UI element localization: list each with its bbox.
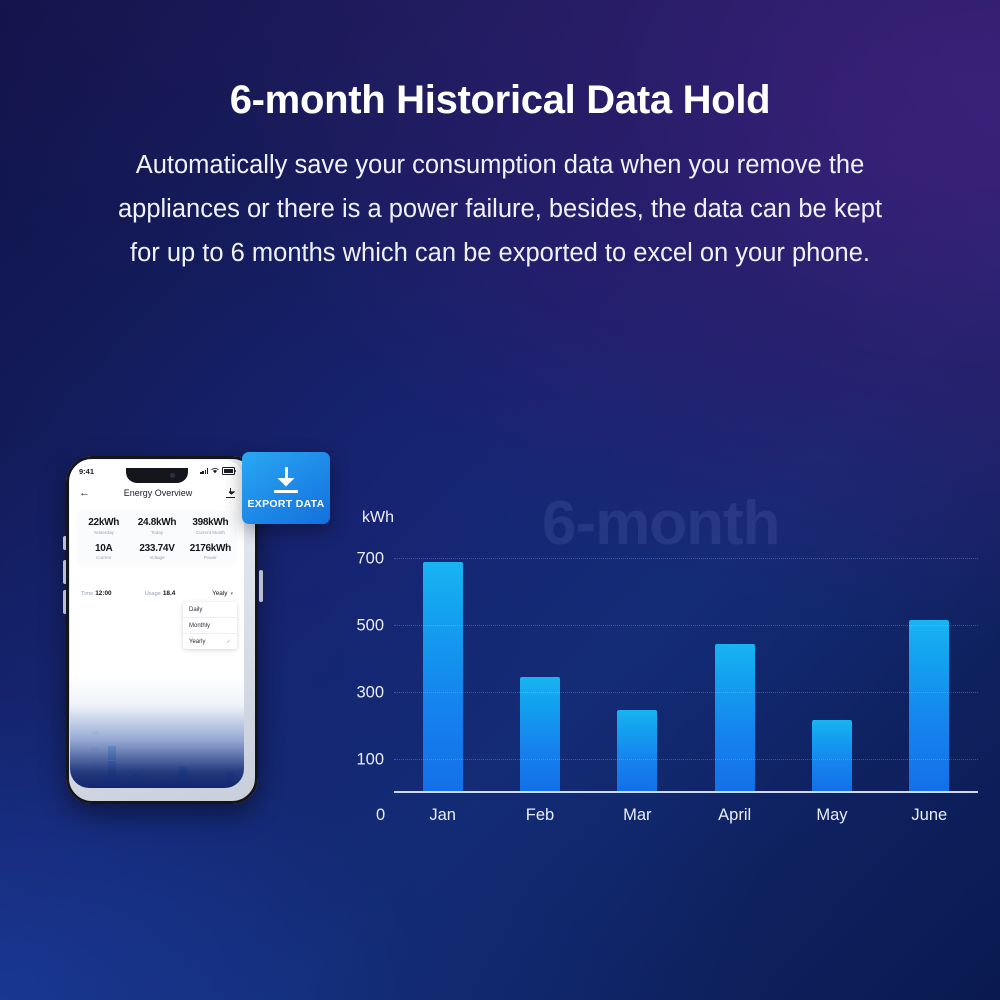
- phone-power-button: [259, 570, 263, 602]
- usage-readout: Usage 18.4: [127, 590, 193, 597]
- usage-label: Usage: [145, 591, 161, 597]
- chart-bar-slot: [394, 539, 491, 791]
- usage-panel: Time 12:00 Usage 18.4 Yealy ▾ Daily: [77, 590, 237, 597]
- stat-value: 10A: [77, 543, 130, 554]
- stat-cell: 2176kWh Power: [184, 543, 237, 561]
- phone-volume-down-button: [63, 590, 67, 614]
- chevron-down-icon: ▾: [230, 591, 233, 597]
- subtitle-line: appliances or there is a power failure, …: [0, 187, 1000, 231]
- dropdown-item-monthly[interactable]: Monthly: [183, 618, 237, 634]
- stat-label: Power: [184, 555, 237, 560]
- chart-gridline: [394, 625, 978, 626]
- chart-x-tick-label: Mar: [589, 806, 686, 825]
- usage-value: 18.4: [163, 590, 175, 597]
- screen-fade-overlay: [70, 676, 244, 788]
- chart-x-tick-label: April: [686, 806, 783, 825]
- chart-x-tick-label: Jan: [394, 806, 491, 825]
- stat-label: Today: [130, 530, 183, 535]
- stats-row: 22kWh Yesterday 24.8kWh Today 398kWh Cur…: [77, 517, 237, 535]
- dropdown-item-label: Monthly: [189, 623, 210, 629]
- header: 6-month Historical Data Hold Automatical…: [0, 78, 1000, 275]
- chart-bar[interactable]: [423, 562, 463, 791]
- chart-bar-slot: [589, 539, 686, 791]
- chart-bar-slot: [491, 539, 588, 791]
- status-time: 9:41: [79, 467, 94, 476]
- chart-bars: [394, 539, 978, 791]
- time-label: Time: [81, 591, 93, 597]
- stat-value: 398kWh: [184, 517, 237, 528]
- chart-y-tick-label: 500: [356, 616, 384, 635]
- subtitle-line: for up to 6 months which can be exported…: [0, 231, 1000, 275]
- phone-mockup: 9:41 ← Energy Overview 22kWh Yesterday: [60, 450, 270, 810]
- signal-bars-icon: [200, 468, 208, 474]
- stats-row: 10A Current 233.74V Voltage 2176kWh Powe…: [77, 543, 237, 561]
- export-data-button[interactable]: EXPORT DATA: [242, 452, 330, 524]
- check-icon: ✓: [226, 639, 231, 645]
- stat-label: Voltage: [130, 555, 183, 560]
- chart-y-tick-label: 100: [356, 750, 384, 769]
- chart-gridline: [394, 759, 978, 760]
- stat-label: Yesterday: [77, 530, 130, 535]
- period-select-value: Yealy: [212, 590, 227, 597]
- app-screen-title: Energy Overview: [90, 488, 226, 498]
- stat-value: 24.8kWh: [130, 517, 183, 528]
- chart-y-tick-label: 300: [356, 683, 384, 702]
- chart-y-tick-label: 700: [356, 550, 384, 569]
- chart-zero-label: 0: [376, 806, 385, 825]
- app-nav-bar: ← Energy Overview: [70, 482, 244, 504]
- chart-bar-slot: [881, 539, 978, 791]
- period-select[interactable]: Yealy ▾: [193, 590, 233, 597]
- stat-cell: 10A Current: [77, 543, 130, 561]
- stat-label: Current: [77, 555, 130, 560]
- chart-bar-slot: [686, 539, 783, 791]
- stats-card: 22kWh Yesterday 24.8kWh Today 398kWh Cur…: [77, 510, 237, 566]
- phone-notch: [126, 468, 188, 483]
- page-title: 6-month Historical Data Hold: [0, 78, 1000, 122]
- wifi-icon: [211, 468, 219, 474]
- chart-x-axis-line: [394, 791, 978, 793]
- download-icon[interactable]: [226, 488, 235, 498]
- stat-value: 2176kWh: [184, 543, 237, 554]
- subtitle-line: Automatically save your consumption data…: [0, 143, 1000, 187]
- dropdown-item-daily[interactable]: Daily: [183, 602, 237, 618]
- chart-bar[interactable]: [812, 720, 852, 791]
- chart-bar[interactable]: [715, 644, 755, 792]
- chart-x-tick-label: May: [783, 806, 880, 825]
- export-data-label: EXPORT DATA: [248, 498, 325, 510]
- phone-mute-button: [63, 536, 67, 550]
- chart-y-axis-label: kWh: [362, 509, 394, 527]
- download-icon: [271, 467, 301, 495]
- chart-gridline: [394, 558, 978, 559]
- time-value: 12:00: [95, 590, 111, 597]
- usage-header: Time 12:00 Usage 18.4 Yealy ▾: [77, 590, 237, 597]
- stat-cell: 233.74V Voltage: [130, 543, 183, 561]
- front-camera-icon: [170, 473, 175, 478]
- chart-x-tick-label: Feb: [491, 806, 588, 825]
- stat-cell: 398kWh Current Month: [184, 517, 237, 535]
- stat-value: 22kWh: [77, 517, 130, 528]
- chart-x-tick-labels: JanFebMarAprilMayJune: [394, 806, 978, 825]
- status-icons: [200, 467, 235, 475]
- phone-screen: 9:41 ← Energy Overview 22kWh Yesterday: [70, 460, 244, 788]
- chart-bar-slot: [783, 539, 880, 791]
- stat-label: Current Month: [184, 530, 237, 535]
- dropdown-item-label: Yearly: [189, 639, 205, 645]
- page-subtitle: Automatically save your consumption data…: [0, 143, 1000, 275]
- chart-bar[interactable]: [909, 620, 949, 791]
- stat-cell: 24.8kWh Today: [130, 517, 183, 535]
- stat-value: 233.74V: [130, 543, 183, 554]
- back-arrow-icon[interactable]: ←: [79, 488, 90, 499]
- chart-gridline: [394, 692, 978, 693]
- phone-volume-up-button: [63, 560, 67, 584]
- energy-bar-chart: 6-month kWh 700500300100 JanFebMarAprilM…: [356, 505, 980, 835]
- dropdown-item-yearly[interactable]: Yearly ✓: [183, 634, 237, 649]
- chart-bar[interactable]: [617, 710, 657, 791]
- chart-bar[interactable]: [520, 677, 560, 792]
- chart-x-tick-label: June: [881, 806, 978, 825]
- time-readout: Time 12:00: [81, 590, 127, 597]
- period-dropdown-menu[interactable]: Daily Monthly Yearly ✓: [183, 602, 237, 649]
- battery-icon: [222, 467, 235, 475]
- dropdown-item-label: Daily: [189, 607, 202, 613]
- chart-plot-area: 700500300100: [394, 539, 978, 793]
- stat-cell: 22kWh Yesterday: [77, 517, 130, 535]
